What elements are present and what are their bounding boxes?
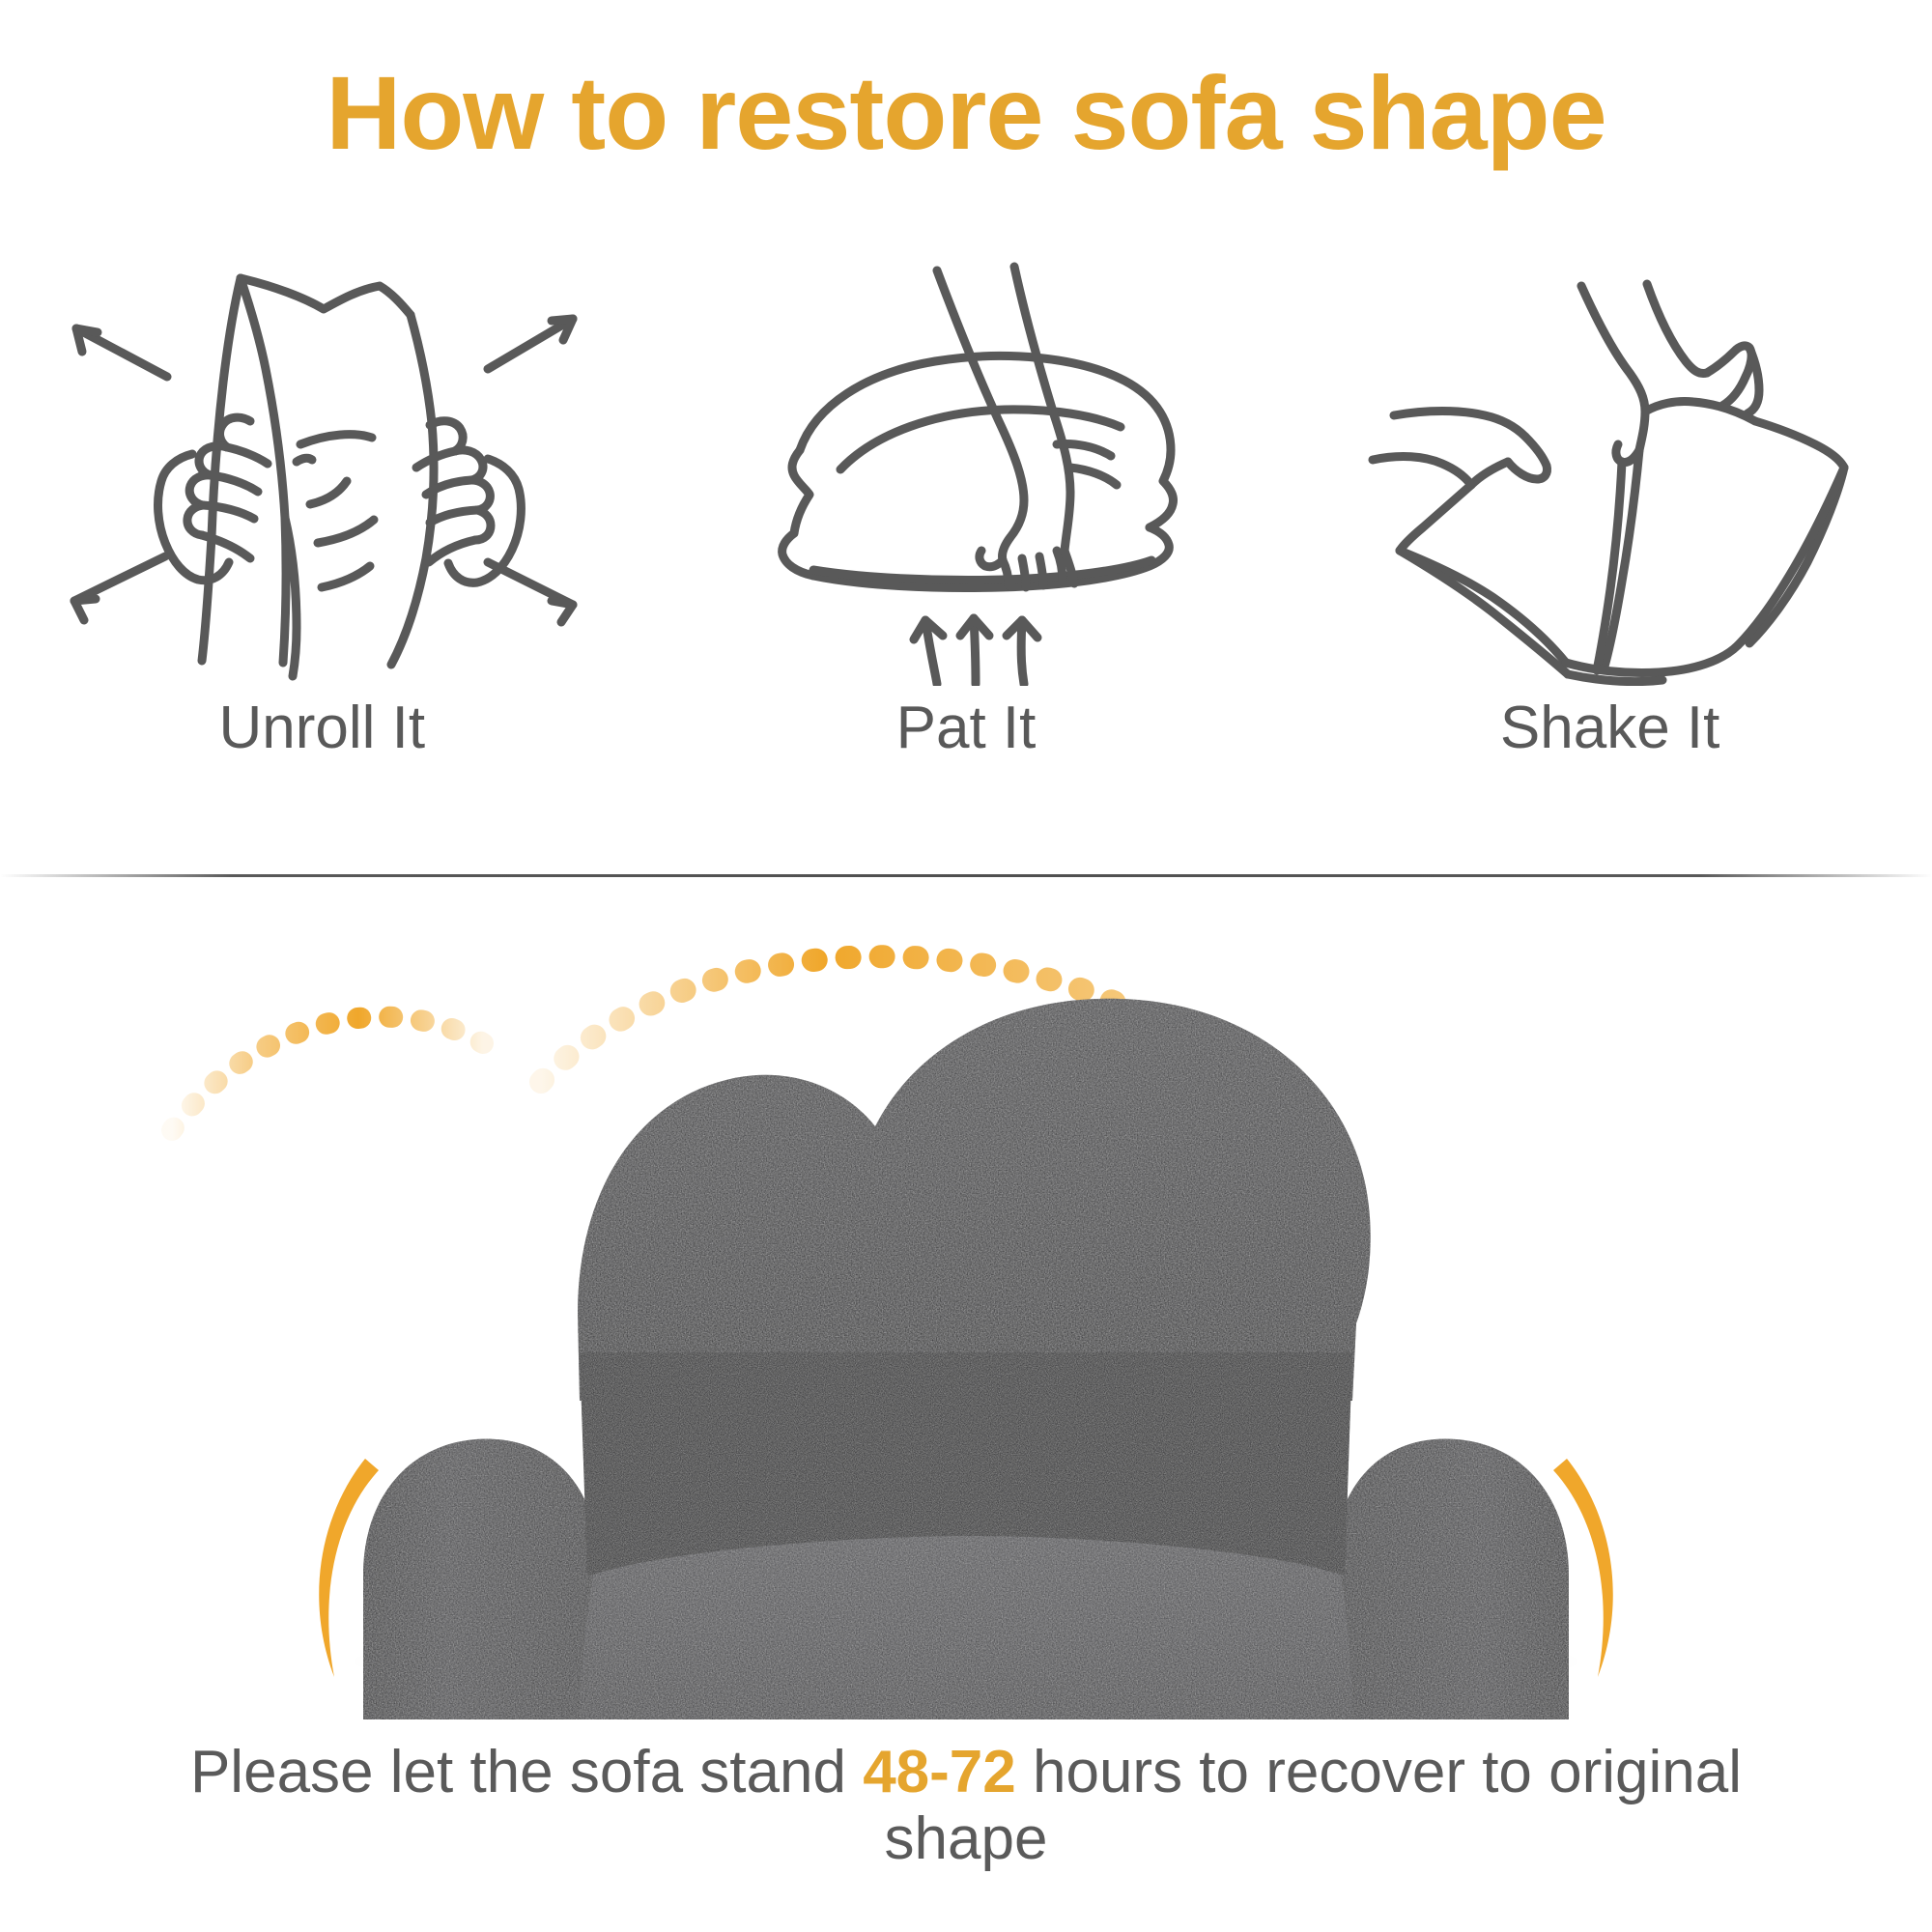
page-title: How to restore sofa shape — [0, 56, 1932, 171]
unroll-fabric-icon — [51, 261, 592, 686]
step-pat: Pat It — [667, 261, 1265, 840]
shake-fabric-icon — [1340, 261, 1881, 686]
step-shake: Shake It — [1311, 261, 1910, 840]
step-unroll: Unroll It — [22, 261, 621, 840]
steps-row: Unroll It — [0, 261, 1932, 840]
step-label-shake: Shake It — [1500, 694, 1719, 762]
sofa-backrest — [578, 999, 1371, 1401]
sofa-armrest-left — [363, 1439, 607, 1719]
caption-highlight: 48-72 — [863, 1739, 1016, 1805]
caption-before: Please let the sofa stand — [190, 1739, 863, 1805]
sofa-armrest-right — [1325, 1439, 1569, 1719]
pat-cushion-icon — [696, 261, 1236, 686]
sofa-seat-cushion — [579, 1536, 1354, 1719]
loft-arc-dots-left — [172, 1017, 483, 1130]
recovery-time-caption: Please let the sofa stand 48-72 hours to… — [0, 1739, 1932, 1873]
step-label-pat: Pat It — [896, 694, 1037, 762]
product-photo-sofa — [0, 898, 1932, 1719]
step-label-unroll: Unroll It — [219, 694, 426, 762]
section-divider — [0, 874, 1932, 877]
arrow-up-left — [76, 328, 167, 377]
